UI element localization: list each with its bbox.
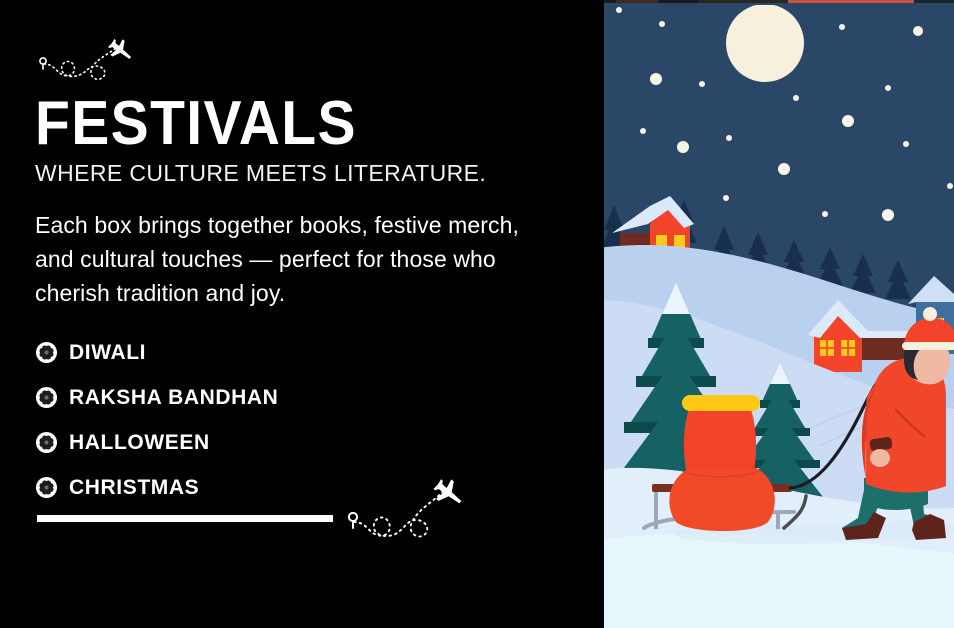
list-item[interactable]: RAKSHA BANDHAN xyxy=(35,375,555,420)
list-item-label: RAKSHA BANDHAN xyxy=(69,387,278,408)
flower-rosette-bullet-icon xyxy=(35,386,58,409)
top-image-sliver xyxy=(598,0,954,5)
airplane-flight-path-doodle-icon xyxy=(30,28,142,90)
panel-left-edge-strip xyxy=(598,0,604,628)
sack-band xyxy=(682,395,760,411)
barn-extension xyxy=(860,335,908,360)
hat-pom xyxy=(923,307,937,321)
illustration-panel xyxy=(598,0,954,628)
list-item-label: CHRISTMAS xyxy=(69,477,199,498)
festival-list: DIWALI RAKSHA BANDHAN xyxy=(35,330,555,510)
snow-ground-front xyxy=(598,533,954,628)
window xyxy=(674,235,685,248)
hat-brim xyxy=(902,342,954,350)
promo-card: FESTIVALS WHERE CULTURE MEETS LITERATURE… xyxy=(0,0,954,628)
window xyxy=(841,340,855,356)
page-subtitle: WHERE CULTURE MEETS LITERATURE. xyxy=(35,160,486,186)
flower-rosette-bullet-icon xyxy=(35,476,58,499)
divider xyxy=(37,515,333,522)
text-panel: FESTIVALS WHERE CULTURE MEETS LITERATURE… xyxy=(0,0,598,628)
hand xyxy=(870,449,890,467)
airplane-flight-path-doodle-icon xyxy=(340,462,470,542)
list-item-label: DIWALI xyxy=(69,342,146,363)
window xyxy=(820,340,834,356)
winter-night-village-illustration xyxy=(598,0,954,628)
moon-icon xyxy=(726,4,804,82)
page-title: FESTIVALS xyxy=(35,93,357,155)
list-item[interactable]: DIWALI xyxy=(35,330,555,375)
body-paragraph: Each box brings together books, festive … xyxy=(35,208,535,310)
list-item[interactable]: HALLOWEEN xyxy=(35,420,555,465)
list-item[interactable]: CHRISTMAS xyxy=(35,465,555,510)
flower-rosette-bullet-icon xyxy=(35,341,58,364)
flower-rosette-bullet-icon xyxy=(35,431,58,454)
list-item-label: HALLOWEEN xyxy=(69,432,210,453)
